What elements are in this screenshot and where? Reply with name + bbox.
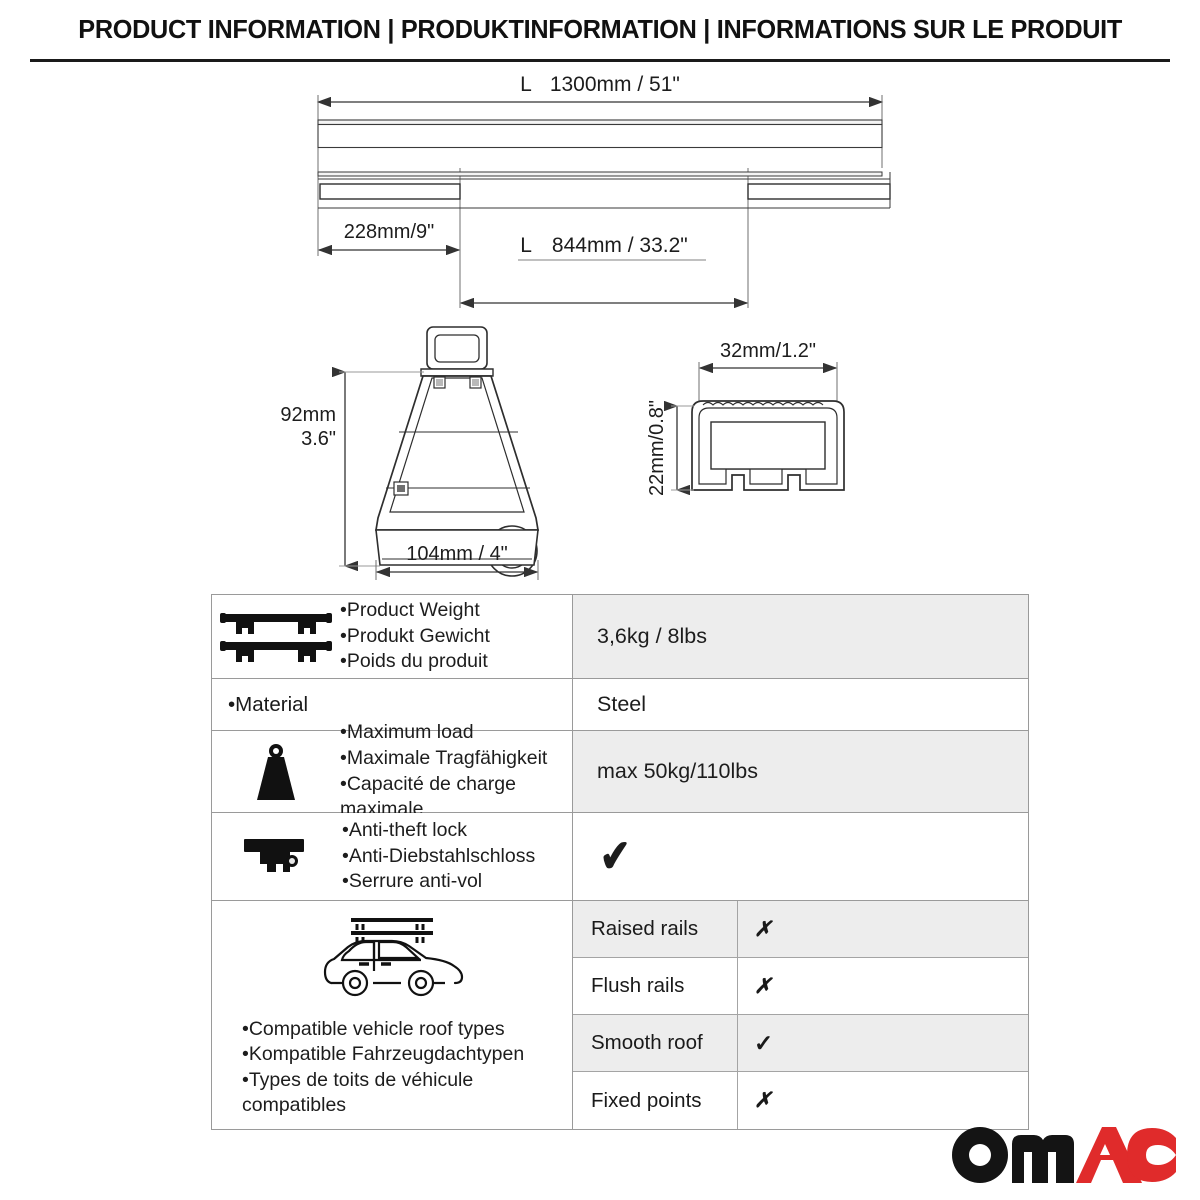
bar-cross-section: 32mm/1.2" 22mm/0.8" bbox=[646, 340, 844, 496]
label-line-fr: •Poids du produit bbox=[340, 649, 570, 675]
technical-drawing: L1300mm / 51" 228mm/9" bbox=[0, 60, 1200, 580]
foot-spread-label: L bbox=[520, 234, 532, 257]
roof-type-mark: ✗ bbox=[738, 1072, 1028, 1129]
crossbars-icon bbox=[212, 610, 340, 664]
specification-table: •Product Weight •Produkt Gewicht •Poids … bbox=[211, 594, 1029, 1130]
spec-label-cell: •Maximum load •Maximale Tragfähigkeit •C… bbox=[212, 731, 573, 812]
foot-height-line1: 92mm bbox=[280, 404, 336, 426]
spec-label-cell: •Product Weight •Produkt Gewicht •Poids … bbox=[212, 595, 573, 678]
label-line-de: •Maximale Tragfähigkeit bbox=[340, 746, 570, 772]
spec-value-lock: ✔ bbox=[573, 813, 1028, 900]
spec-label-text: •Material bbox=[228, 693, 308, 717]
roof-types-text: •Compatible vehicle roof types •Kompatib… bbox=[212, 1003, 572, 1118]
spec-value-max-load: max 50kg/110lbs bbox=[573, 731, 1028, 812]
roof-type-name: Smooth roof bbox=[573, 1015, 738, 1071]
spec-label-text: •Product Weight •Produkt Gewicht •Poids … bbox=[340, 598, 572, 676]
spec-value-material: Steel bbox=[573, 679, 1028, 730]
roof-type-mark: ✗ bbox=[738, 958, 1028, 1014]
label-line-en: •Product Weight bbox=[340, 598, 570, 624]
foot-front-view: 92mm 3.6" 104mm / 4" bbox=[280, 327, 538, 580]
label-line-en: •Compatible vehicle roof types bbox=[242, 1017, 572, 1042]
label-line-de: •Produkt Gewicht bbox=[340, 624, 570, 650]
foot-body bbox=[376, 376, 538, 530]
foot-offset-text: 228mm/9" bbox=[344, 221, 434, 243]
bar-length-value: 1300mm / 51" bbox=[550, 73, 680, 96]
foot-width-text: 104mm / 4" bbox=[406, 543, 508, 565]
profile-width-text: 32mm/1.2" bbox=[720, 340, 816, 362]
roof-type-row-smooth-roof: Smooth roof ✓ bbox=[573, 1015, 1028, 1072]
bar-length-text: L1300mm / 51" bbox=[520, 73, 680, 96]
bar-top-view: L1300mm / 51" bbox=[318, 73, 882, 168]
spec-value-weight: 3,6kg / 8lbs bbox=[573, 595, 1028, 678]
label-line-fr-cont: compatibles bbox=[242, 1093, 572, 1118]
label-line-en: •Maximum load bbox=[340, 720, 570, 746]
label-line-de: •Kompatible Fahrzeugdachtypen bbox=[242, 1042, 572, 1067]
roof-type-name: Flush rails bbox=[573, 958, 738, 1014]
car-with-rack-icon bbox=[212, 909, 572, 1003]
table-row: •Maximum load •Maximale Tragfähigkeit •C… bbox=[212, 731, 1028, 813]
roof-types-label-cell: •Compatible vehicle roof types •Kompatib… bbox=[212, 901, 573, 1129]
profile-height-text: 22mm/0.8" bbox=[646, 400, 668, 496]
checkmark-icon: ✔ bbox=[599, 834, 632, 880]
weight-icon bbox=[212, 742, 340, 802]
profile-cavity bbox=[711, 422, 825, 469]
foot-spread-value: 844mm / 33.2" bbox=[552, 234, 688, 257]
bar-length-label: L bbox=[520, 73, 532, 96]
roof-type-name: Raised rails bbox=[573, 901, 738, 957]
foot-height-line2: 3.6" bbox=[301, 428, 336, 450]
roof-type-row-raised-rails: Raised rails ✗ bbox=[573, 901, 1028, 958]
table-row: •Anti-theft lock •Anti-Diebstahlschloss … bbox=[212, 813, 1028, 901]
label-line-de: •Anti-Diebstahlschloss bbox=[342, 844, 570, 870]
roof-type-row-flush-rails: Flush rails ✗ bbox=[573, 958, 1028, 1015]
page-header: PRODUCT INFORMATION | PRODUKTINFORMATION… bbox=[0, 0, 1200, 60]
roof-compatibility-table: Raised rails ✗ Flush rails ✗ Smooth roof… bbox=[573, 901, 1028, 1129]
spec-label-text: •Maximum load •Maximale Tragfähigkeit •C… bbox=[340, 720, 572, 824]
table-row: •Product Weight •Produkt Gewicht •Poids … bbox=[212, 595, 1028, 679]
foot-spread-dimension: L844mm / 33.2" bbox=[461, 234, 747, 303]
roof-type-name: Fixed points bbox=[573, 1072, 738, 1129]
label-line-fr: •Serrure anti-vol bbox=[342, 869, 570, 895]
table-row: •Material Steel bbox=[212, 679, 1028, 731]
roof-type-mark: ✓ bbox=[738, 1015, 1028, 1071]
roof-type-mark: ✗ bbox=[738, 901, 1028, 957]
lock-icon bbox=[212, 835, 340, 879]
table-row: •Compatible vehicle roof types •Kompatib… bbox=[212, 901, 1028, 1129]
omac-logo bbox=[950, 1122, 1176, 1184]
label-line-fr: •Types de toits de véhicule bbox=[242, 1068, 572, 1093]
foot-bar-block-inner bbox=[435, 335, 479, 362]
roof-type-row-fixed-points: Fixed points ✗ bbox=[573, 1072, 1028, 1129]
spec-label-cell: •Anti-theft lock •Anti-Diebstahlschloss … bbox=[212, 813, 573, 900]
foot-offset-dimension: 228mm/9" bbox=[318, 221, 459, 256]
page-title: PRODUCT INFORMATION | PRODUKTINFORMATION… bbox=[78, 16, 1122, 45]
foot-spread-text: L844mm / 33.2" bbox=[520, 234, 688, 257]
label-line-en: •Anti-theft lock bbox=[342, 818, 570, 844]
spec-label-text: •Anti-theft lock •Anti-Diebstahlschloss … bbox=[340, 818, 572, 896]
